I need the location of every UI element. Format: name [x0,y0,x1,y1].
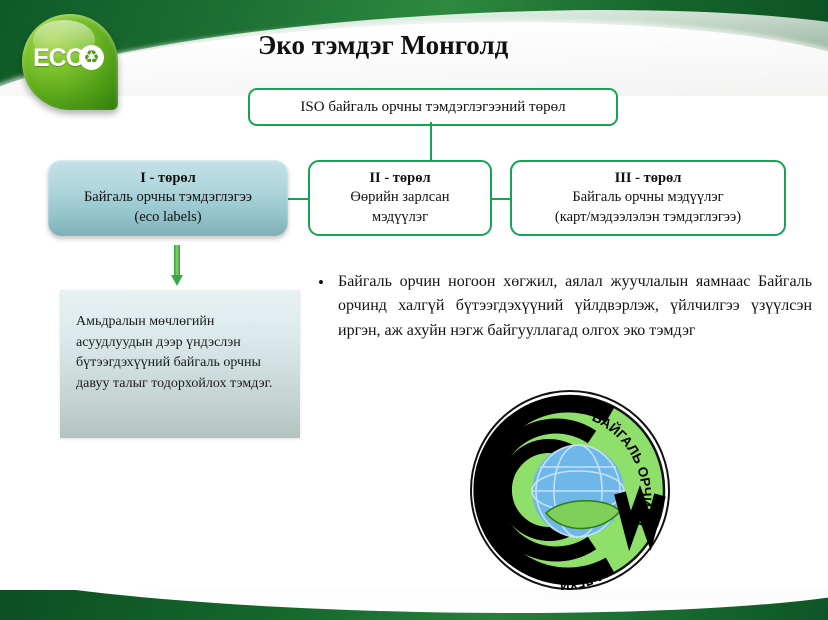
type-box-1-line-2: (eco labels) [134,208,201,227]
bullet-item: • Байгаль орчин ногоон хөгжил, аялал жуу… [312,270,812,343]
connector-type1-type2 [288,198,308,200]
connector-type2-type3 [492,198,510,200]
connector-root-vertical [430,122,432,165]
type-box-2-heading: II - төрөл [369,169,430,188]
type-box-1: I - төрөл Байгаль орчны тэмдэглэгээ (eco… [48,160,288,236]
bullet-paragraph: Байгаль орчин ногоон хөгжил, аялал жуучл… [338,270,812,343]
mongolian-eco-label-mark: БАЙГАЛЬ ОРЧИНД ХАЛГҮЙ [460,385,680,595]
type-box-2: II - төрөл Өөрийн зарлсан мэдүүлэг [308,160,492,236]
iso-root-box: ISO байгаль орчны тэмдэглэгээний төрөл [248,88,618,126]
type-box-3-line-2: (карт/мэдээлэлэн тэмдэглэгээ) [555,208,741,227]
type-box-3: III - төрөл Байгаль орчны мэдүүлэг (карт… [510,160,786,236]
eco-brand-logo: ECO ♻ [22,14,122,118]
type-box-2-line-2: мэдүүлэг [372,208,428,227]
type1-description-text: Амьдралын мөчлөгийн асуудлуудын дээр үнд… [76,314,272,391]
type-box-1-line-1: Байгаль орчны тэмдэглэгээ [84,188,252,207]
type-box-3-line-1: Байгаль орчны мэдүүлэг [572,188,723,207]
recycle-icon: ♻ [79,45,104,70]
bullet-marker: • [312,270,338,296]
eco-mark-svg: БАЙГАЛЬ ОРЧИНД ХАЛГҮЙ [460,385,680,595]
down-arrow-icon [171,245,182,287]
footer-swoosh [0,590,828,620]
type1-description-box: Амьдралын мөчлөгийн асуудлуудын дээр үнд… [60,290,300,438]
page-title: Эко тэмдэг Монголд [258,30,508,61]
footer-band [0,590,828,620]
arrow-head [171,275,183,286]
type-box-2-line-1: Өөрийн зарлсан [350,188,449,207]
type-box-1-heading: I - төрөл [140,169,196,188]
iso-root-label: ISO байгаль орчны тэмдэглэгээний төрөл [300,99,565,116]
type-box-3-heading: III - төрөл [615,169,682,188]
arrow-shaft [174,245,180,276]
